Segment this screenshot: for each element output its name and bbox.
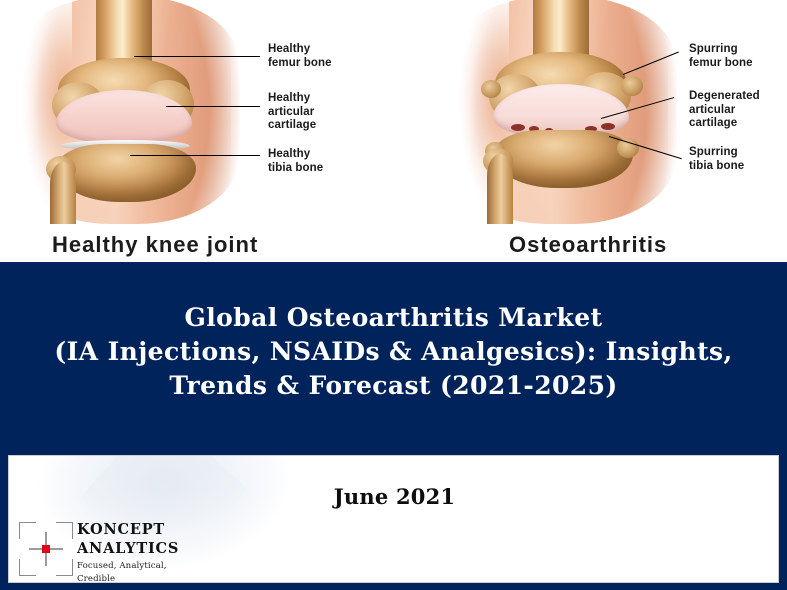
fibula	[50, 162, 76, 224]
crosshair-corner-top-right	[56, 522, 73, 539]
label-healthy-femur-bone: Healthy femur bone	[268, 43, 332, 70]
crosshair-corner-top-left	[19, 522, 36, 539]
caption-healthy-knee-joint: Healthy knee joint	[52, 232, 258, 258]
footer-band: June 2021 KONCEPT ANALYTICS Focused, Ana…	[0, 442, 787, 590]
healthy-knee-illustration: Healthy femur bone Healthy articular car…	[0, 0, 390, 262]
label-healthy-articular-cartilage: Healthy articular cartilage	[268, 92, 316, 133]
logo-tagline: Focused, Analytical, Credible	[77, 560, 207, 583]
tibia-shaft	[537, 182, 589, 224]
label-spurring-femur-bone: Spurring femur bone	[689, 43, 753, 70]
leader-line-tibia	[130, 155, 260, 156]
healthy-knee-anatomy-graphic	[8, 0, 240, 224]
koncept-analytics-logo[interactable]: KONCEPT ANALYTICS Focused, Analytical, C…	[15, 518, 205, 580]
label-spurring-tibia-bone: Spurring tibia bone	[689, 146, 744, 173]
crosshair-corner-bottom-right	[56, 559, 73, 576]
osteoarthritis-knee-anatomy-graphic	[445, 0, 677, 224]
osteoarthritis-knee-illustration: Spurring femur bone Degenerated articula…	[397, 0, 787, 262]
cartilage-erosion-a	[511, 124, 525, 131]
publication-date: June 2021	[9, 484, 779, 509]
crosshair-target-icon	[19, 522, 73, 576]
caption-osteoarthritis: Osteoarthritis	[509, 232, 667, 258]
fibula	[487, 154, 513, 224]
femur-bone-spur-left	[481, 80, 501, 98]
crosshair-corner-bottom-left	[19, 559, 36, 576]
logo-name-line-1: KONCEPT	[77, 520, 207, 539]
report-title-banner: Global Osteoarthritis Market (IA Injecti…	[0, 262, 787, 442]
tibia-shaft	[100, 192, 152, 224]
label-healthy-tibia-bone: Healthy tibia bone	[268, 148, 323, 175]
femur-bone-spur-right	[621, 76, 643, 96]
cartilage-erosion-e	[601, 123, 615, 130]
hero-images-band: Healthy femur bone Healthy articular car…	[0, 0, 787, 262]
footer-content-panel: June 2021 KONCEPT ANALYTICS Focused, Ana…	[8, 455, 779, 583]
logo-wordmark: KONCEPT ANALYTICS Focused, Analytical, C…	[77, 520, 207, 583]
page-title: Global Osteoarthritis Market (IA Injecti…	[0, 301, 787, 403]
crosshair-center-dot	[42, 545, 50, 553]
leader-line-femur	[134, 56, 260, 57]
label-degenerated-articular-cartilage: Degenerated articular cartilage	[689, 90, 760, 131]
logo-name-line-2: ANALYTICS	[77, 539, 207, 558]
leader-line-cartilage	[166, 106, 260, 107]
